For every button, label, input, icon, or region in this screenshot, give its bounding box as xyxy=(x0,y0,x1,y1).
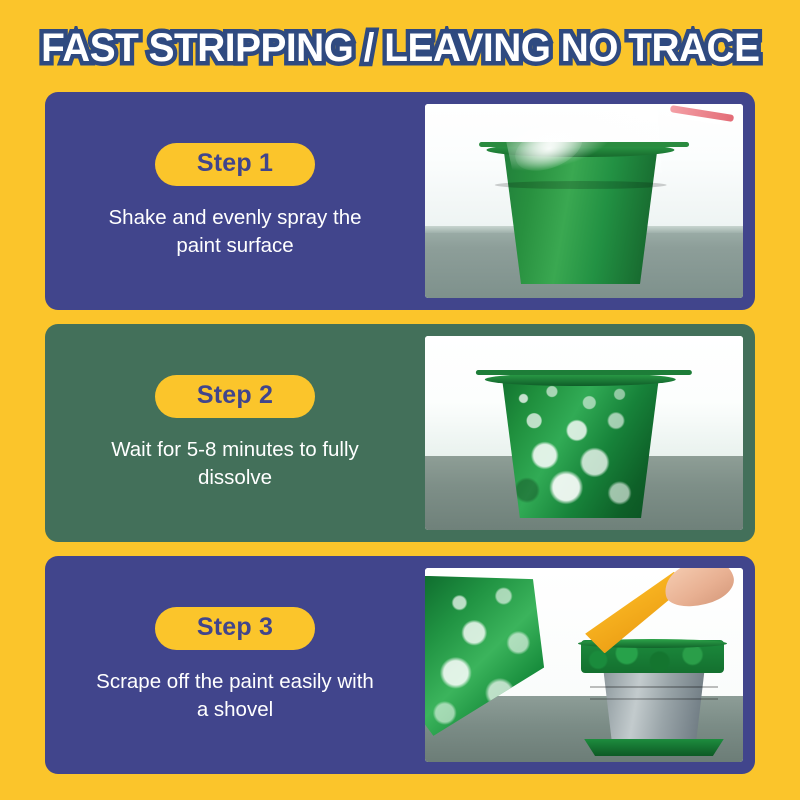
step-2-photo-scene xyxy=(425,336,743,530)
step-1-photo xyxy=(425,104,743,298)
step-3-badge: Step 3 xyxy=(155,607,315,650)
step-1-photo-scene xyxy=(425,104,743,298)
residual-paint-base xyxy=(584,739,724,756)
steps-list: Step 1 Shake and evenly spray the paint … xyxy=(0,92,800,800)
page-title: FAST STRIPPING / LEAVING NO TRACE xyxy=(41,26,759,71)
bubbled-paint-bucket xyxy=(491,379,669,519)
step-3-description: Scrape off the paint easily with a shove… xyxy=(90,668,380,723)
step-1-text-block: Step 1 Shake and evenly spray the paint … xyxy=(45,92,425,310)
page-header: FAST STRIPPING / LEAVING NO TRACE xyxy=(0,0,800,92)
step-card-2: Step 2 Wait for 5-8 minutes to fully dis… xyxy=(45,324,755,542)
step-1-badge: Step 1 xyxy=(155,143,315,186)
step-2-text-block: Step 2 Wait for 5-8 minutes to fully dis… xyxy=(45,324,425,542)
step-1-description: Shake and evenly spray the paint surface xyxy=(90,204,380,259)
bucket-ring-lower xyxy=(590,698,717,700)
step-2-photo xyxy=(425,336,743,530)
bucket-handle xyxy=(476,370,692,375)
bucket-ring-upper xyxy=(590,686,717,688)
step-2-badge: Step 2 xyxy=(155,375,315,418)
step-card-1: Step 1 Shake and evenly spray the paint … xyxy=(45,92,755,310)
step-card-3: Step 3 Scrape off the paint easily with … xyxy=(45,556,755,774)
step-3-photo-scene xyxy=(425,568,743,762)
step-2-description: Wait for 5-8 minutes to fully dissolve xyxy=(90,436,380,491)
step-3-photo xyxy=(425,568,743,762)
bucket-band xyxy=(495,181,667,189)
step-3-text-block: Step 3 Scrape off the paint easily with … xyxy=(45,556,425,774)
